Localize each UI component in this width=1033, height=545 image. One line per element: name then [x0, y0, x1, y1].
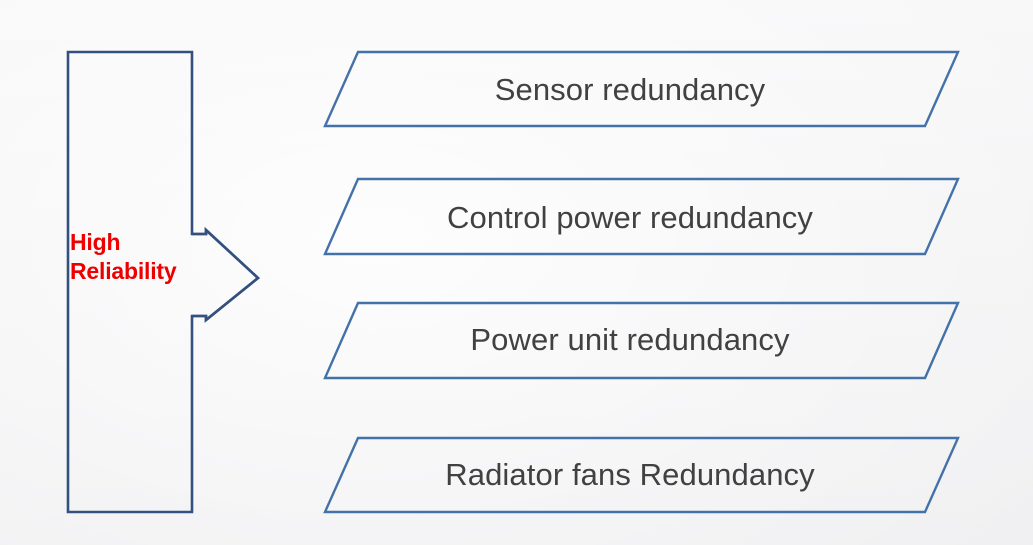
label-layer: High Reliability Sensor redundancy Contr… [0, 0, 1033, 545]
left-box-title: High Reliability [70, 228, 190, 286]
row-label-sensor-redundancy: Sensor redundancy [320, 73, 940, 107]
row-label-radiator-fans-redundancy: Radiator fans Redundancy [320, 458, 940, 492]
row-label-control-power-redundancy: Control power redundancy [320, 201, 940, 235]
row-label-power-unit-redundancy: Power unit redundancy [320, 323, 940, 357]
slide-canvas: High Reliability Sensor redundancy Contr… [0, 0, 1033, 545]
